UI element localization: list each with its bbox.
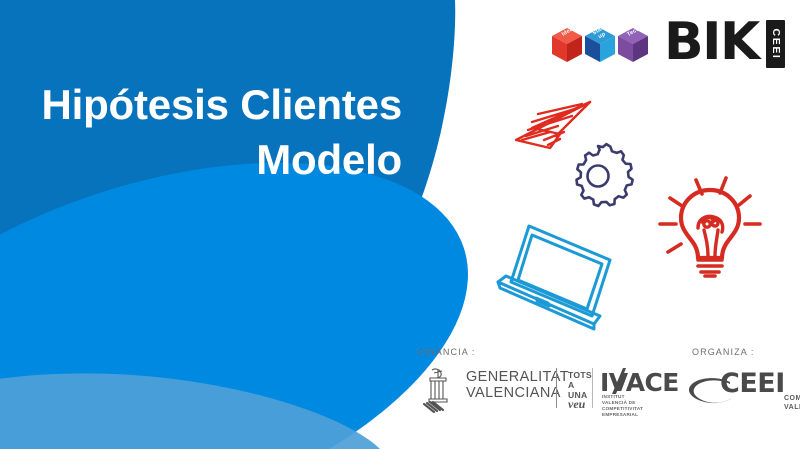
ceei-wordmark: CEEI (720, 368, 785, 399)
veu-label: veu (568, 397, 585, 412)
ivace-slash-icon (612, 368, 626, 394)
financia-label: FINANCIA : (418, 347, 476, 357)
ceei-badge: CEEI (766, 20, 785, 68)
generalitat-crest-icon (418, 366, 458, 414)
bik-wordmark: BIK! (664, 12, 781, 72)
presentation-slide: Hipótesis Clientes Modelo (0, 0, 800, 449)
page-title-line-1: Hipótesis Clientes (0, 78, 402, 133)
organiza-label: ORGANIZA : (692, 347, 755, 357)
page-title-line-2: Modelo (0, 133, 402, 188)
cube-startup-icon (585, 28, 615, 62)
cube-tech-icon (618, 28, 648, 62)
footer-divider-2 (592, 368, 593, 408)
lightbulb-icon (652, 172, 768, 280)
ivace-subtitle: INSTITUT VALENCIÀ DE COMPETITIVITAT EMPR… (602, 394, 643, 418)
ceei-badge-text: CEEI (770, 29, 782, 60)
generalitat-valenciana-wordmark: GENERALITAT VALENCIANA (466, 370, 569, 401)
page-title: Hipótesis Clientes Modelo (0, 78, 420, 187)
bik-cubes-icon (548, 18, 660, 76)
footer-divider (556, 368, 557, 408)
gear-icon (562, 140, 634, 212)
laptop-icon (482, 212, 630, 338)
bik-logo: Idea Start up Tech BIK! CEEI (548, 16, 794, 78)
cube-idea-icon (552, 28, 582, 62)
ceei-subtitle: COMUNITAT VALENCIANA (784, 394, 800, 413)
